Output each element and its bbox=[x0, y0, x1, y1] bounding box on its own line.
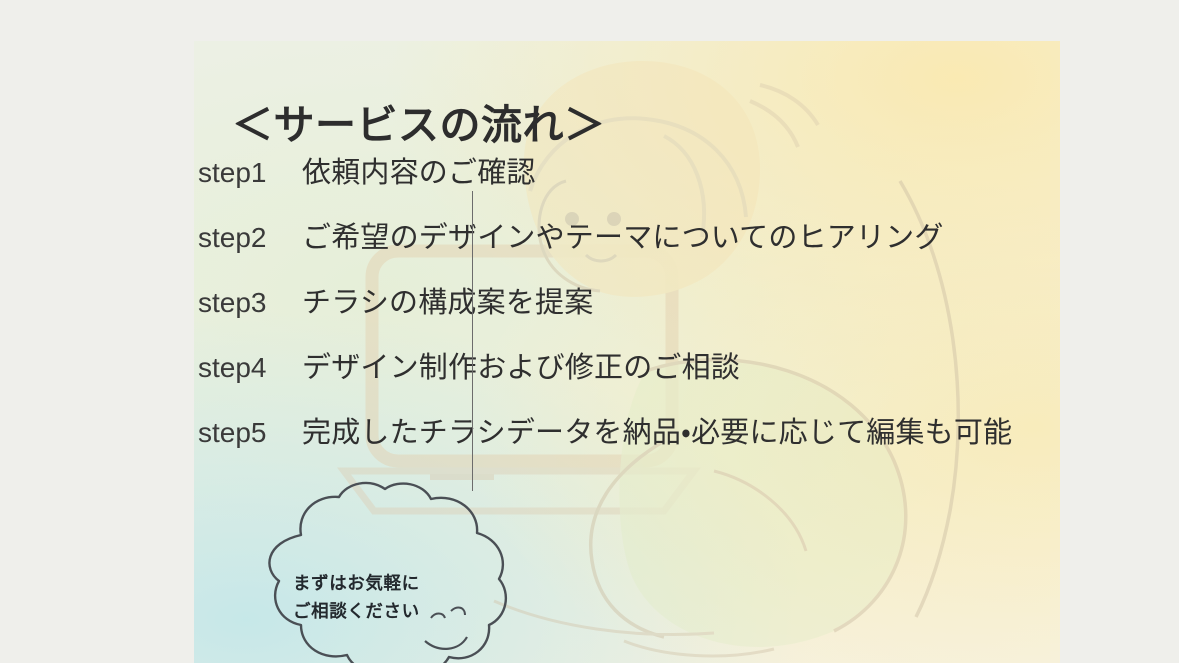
step-label: step1 bbox=[198, 157, 282, 189]
step-text: ご希望のデザインやテーマについてのヒアリング bbox=[282, 214, 944, 256]
step-label: step5 bbox=[198, 417, 282, 449]
step-text: デザイン制作および修正のご相談 bbox=[282, 344, 740, 386]
step-text: 依頼内容のご確認 bbox=[282, 149, 536, 191]
step-row: step5 完成したチラシデータを納品・必要に応じて編集も可能 bbox=[198, 409, 1058, 474]
step-label: step3 bbox=[198, 287, 282, 319]
slide-canvas: ＜サービスの流れ＞ step1 依頼内容のご確認 step2 ご希望のデザインや… bbox=[194, 41, 1060, 663]
step-row: step2 ご希望のデザインやテーマについてのヒアリング bbox=[198, 214, 1058, 279]
thought-bubble: まずはお気軽に ご相談ください bbox=[235, 481, 525, 663]
step-row: step1 依頼内容のご確認 bbox=[198, 149, 1058, 214]
step-divider bbox=[472, 191, 473, 491]
step-row: step4 デザイン制作および修正のご相談 bbox=[198, 344, 1058, 409]
step-label: step2 bbox=[198, 222, 282, 254]
step-list: step1 依頼内容のご確認 step2 ご希望のデザインやテーマについてのヒア… bbox=[198, 149, 1058, 474]
step-text: 完成したチラシデータを納品・必要に応じて編集も可能 bbox=[282, 409, 1012, 451]
step-label: step4 bbox=[198, 352, 282, 384]
thought-bubble-line-2: ご相談ください bbox=[293, 597, 420, 625]
step-text: チラシの構成案を提案 bbox=[282, 279, 593, 321]
step-row: step3 チラシの構成案を提案 bbox=[198, 279, 1058, 344]
page-title: ＜サービスの流れ＞ bbox=[232, 91, 606, 151]
thought-bubble-text: まずはお気軽に ご相談ください bbox=[293, 569, 420, 626]
thought-bubble-line-1: まずはお気軽に bbox=[293, 569, 420, 597]
